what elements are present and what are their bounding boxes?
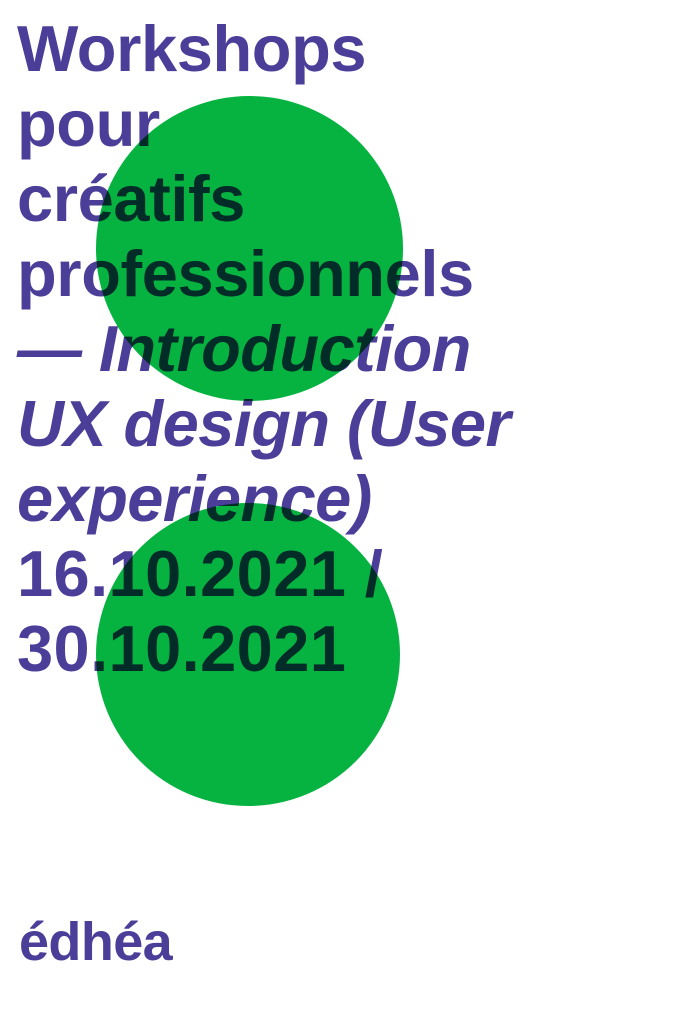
headline-line-2: pour	[17, 86, 687, 161]
headline-date-line-1: 16.10.2021 /	[17, 536, 687, 611]
headline-date-line-2: 30.10.2021	[17, 611, 687, 686]
poster-canvas: Workshops pour créatifs professionnels —…	[0, 0, 700, 1011]
headline-line-6: UX design (User	[17, 386, 687, 461]
headline-line-3: créatifs	[17, 161, 687, 236]
edhea-wordmark: édhéa	[19, 914, 172, 970]
headline-line-7: experience)	[17, 461, 687, 536]
poster-headline: Workshops pour créatifs professionnels —…	[17, 11, 687, 686]
headline-line-4: professionnels	[17, 236, 687, 311]
headline-line-5: — Introduction	[17, 311, 687, 386]
headline-line-1: Workshops	[17, 11, 687, 86]
